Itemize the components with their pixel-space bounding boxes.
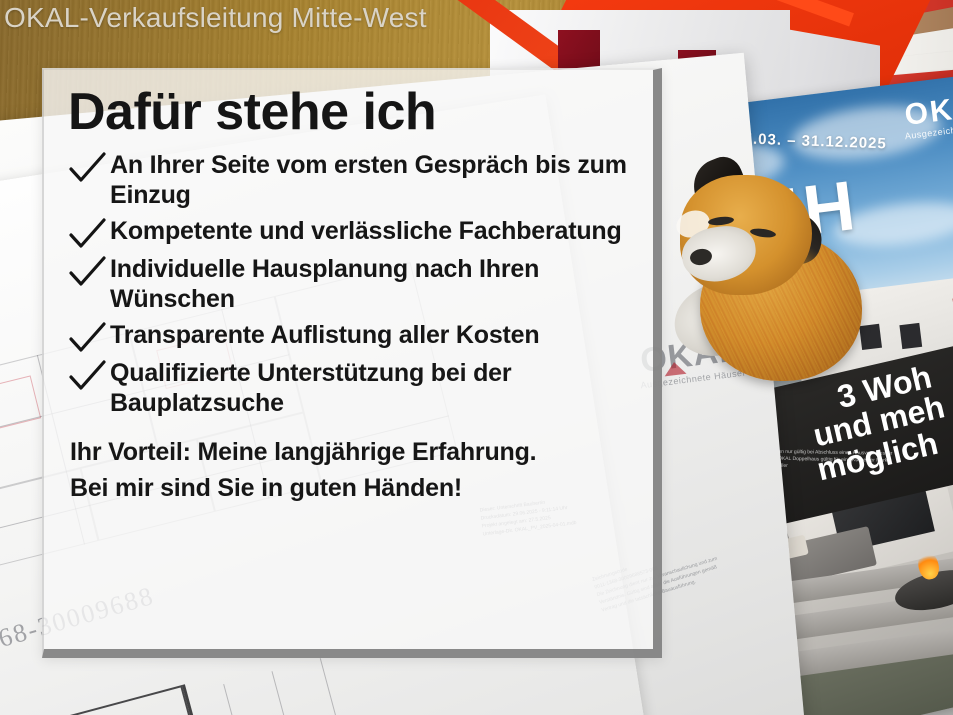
window-title: OKAL-Verkaufsleitung Mitte-West <box>4 2 427 34</box>
list-item: Qualifizierte Unterstützung bei der Baup… <box>66 356 639 418</box>
list-item-label: Individuelle Hausplanung nach Ihren Wüns… <box>110 252 639 314</box>
closing-line-1: Ihr Vorteil: Meine langjährige Erfahrung… <box>70 434 639 470</box>
banner-fine-print: Aktion nur gültig bei Abschluss eines Ha… <box>770 449 900 472</box>
list-item: Kompetente und verlässliche Fachberatung <box>66 214 639 248</box>
check-icon <box>66 360 110 394</box>
list-item-label: Qualifizierte Unterstützung bei der Baup… <box>110 356 639 418</box>
list-item-label: Transparente Auflistung aller Kosten <box>110 318 539 350</box>
closing-line-2: Bei mir sind Sie in guten Händen! <box>70 470 639 506</box>
check-icon <box>66 256 110 290</box>
closing-statement: Ihr Vorteil: Meine langjährige Erfahrung… <box>70 434 639 506</box>
fox-plush-figurine <box>672 165 882 380</box>
page-title: Dafür stehe ich <box>68 82 639 142</box>
list-item: Transparente Auflistung aller Kosten <box>66 318 639 352</box>
check-icon <box>66 322 110 356</box>
check-icon <box>66 152 110 186</box>
list-item-label: An Ihrer Seite vom ersten Gespräch bis z… <box>110 148 639 210</box>
check-icon <box>66 218 110 252</box>
screenshot-canvas: OK Ausgezeich 15.03. – 31.12.2025 MEH <box>0 0 953 715</box>
list-item-label: Kompetente und verlässliche Fachberatung <box>110 214 622 246</box>
list-item: Individuelle Hausplanung nach Ihren Wüns… <box>66 252 639 314</box>
list-item: An Ihrer Seite vom ersten Gespräch bis z… <box>66 148 639 210</box>
content-panel: Dafür stehe ich An Ihrer Seite vom erste… <box>42 68 662 658</box>
